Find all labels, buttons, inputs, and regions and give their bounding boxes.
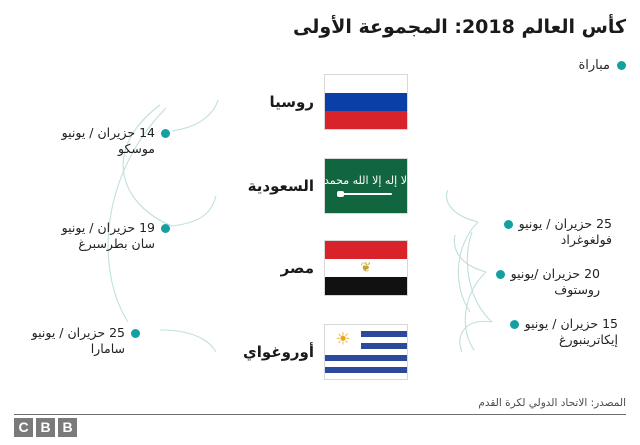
bbc-letter-2: B bbox=[36, 418, 55, 437]
match-callout: 25 حزيران / يونيو سامارا bbox=[32, 325, 140, 356]
russia-flag bbox=[324, 74, 408, 130]
match-city: سامارا bbox=[32, 341, 125, 357]
sword-icon bbox=[340, 193, 393, 195]
match-dot-icon bbox=[161, 224, 170, 233]
match-date: 19 حزيران / يونيو bbox=[62, 220, 155, 236]
match-dot-icon bbox=[617, 61, 626, 70]
match-dot-icon bbox=[504, 220, 513, 229]
footer-divider bbox=[14, 414, 626, 415]
team-row: أوروغواي ☀ bbox=[243, 324, 408, 380]
legend-label: مباراة bbox=[578, 59, 610, 72]
sun-of-may-icon: ☀ bbox=[335, 331, 350, 348]
match-city: إيكاترينبورغ bbox=[525, 332, 618, 348]
team-row: روسيا bbox=[270, 74, 408, 130]
match-dot-icon bbox=[496, 270, 505, 279]
egypt-flag: ❦ bbox=[324, 240, 408, 296]
match-callout: 19 حزيران / يونيو سان بطرسبرغ bbox=[62, 220, 170, 251]
team-name: روسيا bbox=[270, 93, 314, 111]
match-date: 14 حزيران / يونيو bbox=[62, 125, 155, 141]
team-name: أوروغواي bbox=[243, 343, 314, 361]
shahada-text: لا إله إلا الله محمد رسول الله bbox=[325, 175, 407, 186]
match-city: فولغوغراد bbox=[519, 232, 612, 248]
match-callout: 14 حزيران / يونيو موسكو bbox=[62, 125, 170, 156]
match-dot-icon bbox=[510, 320, 519, 329]
match-city: روستوف bbox=[511, 282, 600, 298]
bbc-letter-1: B bbox=[58, 418, 77, 437]
bbc-logo: B B C bbox=[14, 418, 77, 437]
match-callout: 20 حزيران /يونيو روستوف bbox=[496, 266, 600, 297]
saudi-arabia-flag: لا إله إلا الله محمد رسول الله bbox=[324, 158, 408, 214]
match-date: 20 حزيران /يونيو bbox=[511, 266, 600, 282]
page-title: كأس العالم 2018: المجموعة الأولى bbox=[206, 16, 626, 38]
match-dot-icon bbox=[131, 329, 140, 338]
match-date: 15 حزيران / يونيو bbox=[525, 316, 618, 332]
source-note: المصدر: الاتحاد الدولي لكرة القدم bbox=[478, 397, 626, 409]
match-date: 25 حزيران / يونيو bbox=[32, 325, 125, 341]
team-name: مصر bbox=[281, 259, 314, 277]
team-row: مصر ❦ bbox=[281, 240, 408, 296]
legend: مباراة bbox=[578, 59, 626, 72]
uruguay-flag: ☀ bbox=[324, 324, 408, 380]
match-callout: 15 حزيران / يونيو إيكاترينبورغ bbox=[510, 316, 618, 347]
team-name: السعودية bbox=[248, 177, 314, 195]
infographic-canvas: كأس العالم 2018: المجموعة الأولى مباراة bbox=[0, 0, 640, 445]
match-callout: 25 حزيران / يونيو فولغوغراد bbox=[504, 216, 612, 247]
match-dot-icon bbox=[161, 129, 170, 138]
match-city: سان بطرسبرغ bbox=[62, 236, 155, 252]
eagle-icon: ❦ bbox=[361, 262, 372, 275]
match-date: 25 حزيران / يونيو bbox=[519, 216, 612, 232]
bbc-letter-3: C bbox=[14, 418, 33, 437]
team-row: السعودية لا إله إلا الله محمد رسول الله bbox=[248, 158, 408, 214]
match-city: موسكو bbox=[62, 141, 155, 157]
